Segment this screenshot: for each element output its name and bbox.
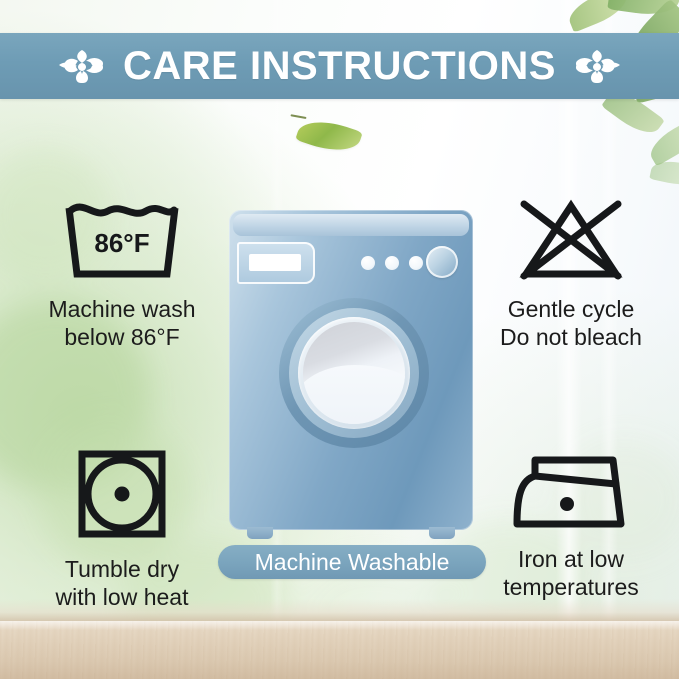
machine-washable-badge: Machine Washable	[218, 545, 486, 579]
wash-temperature-value: 86°F	[94, 228, 149, 258]
header-banner: CARE INSTRUCTIONS	[0, 33, 679, 99]
care-label-iron: Iron at low temperatures	[503, 545, 639, 601]
wash-tub-icon: 86°F	[63, 196, 181, 287]
iron-one-dot-icon	[509, 446, 633, 537]
machine-washable-badge-label: Machine Washable	[255, 551, 450, 574]
machine-door-ring-outer	[289, 308, 419, 438]
care-symbol-iron: Iron at low temperatures	[468, 446, 674, 601]
machine-indicator-lights	[361, 256, 423, 270]
machine-display	[249, 254, 301, 271]
machine-door	[279, 298, 429, 448]
machine-top-strip	[233, 214, 469, 236]
fleur-de-lis-left-icon	[59, 46, 105, 86]
machine-door-glass	[303, 322, 405, 424]
fleur-de-lis-right-icon	[574, 46, 620, 86]
care-label-do-not-bleach: Gentle cycle Do not bleach	[500, 295, 642, 351]
machine-indicator-dot	[409, 256, 423, 270]
wood-table-surface	[0, 621, 679, 679]
machine-program-dial	[426, 246, 458, 278]
care-label-machine-wash: Machine wash below 86°F	[48, 295, 195, 351]
washing-machine-illustration	[229, 210, 473, 530]
care-symbol-tumble-dry: Tumble dry with low heat	[14, 446, 230, 611]
machine-foot	[429, 527, 455, 539]
care-instructions-infographic: CARE INSTRUCTIONS	[0, 0, 679, 679]
page-title: CARE INSTRUCTIONS	[123, 46, 556, 86]
care-symbol-machine-wash: 86°F Machine wash below 86°F	[14, 196, 230, 351]
care-label-tumble-dry: Tumble dry with low heat	[56, 555, 189, 611]
machine-foot	[247, 527, 273, 539]
machine-door-ring-inner	[298, 317, 410, 429]
machine-indicator-dot	[385, 256, 399, 270]
care-symbol-do-not-bleach: Gentle cycle Do not bleach	[468, 196, 674, 351]
machine-indicator-dot	[361, 256, 375, 270]
tumble-dry-square-icon	[72, 446, 172, 547]
triangle-crossed-icon	[512, 196, 630, 287]
machine-control-panel	[237, 242, 315, 284]
